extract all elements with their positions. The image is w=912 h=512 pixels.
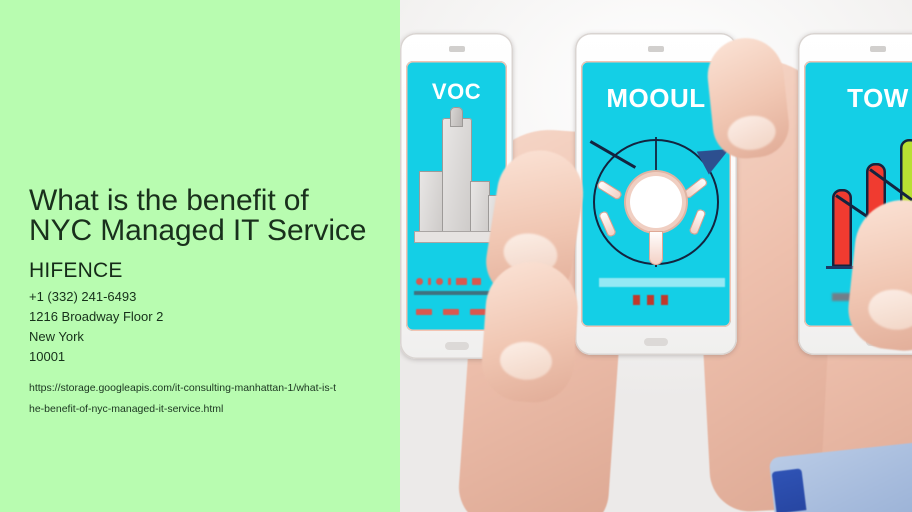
building-block-b — [470, 181, 490, 233]
finger-left-lower — [479, 259, 581, 405]
page-title: What is the benefit of NYC Managed IT Se… — [29, 186, 400, 246]
page-root: What is the benefit of NYC Managed IT Se… — [0, 0, 912, 512]
contact-street: 1216 Broadway Floor 2 — [29, 307, 400, 327]
contact-phone: +1 (332) 241-6493 — [29, 287, 400, 307]
dial-stem — [649, 231, 663, 265]
source-url-line-1: https://storage.googleapis.com/it-consul… — [29, 378, 359, 399]
source-url[interactable]: https://storage.googleapis.com/it-consul… — [29, 378, 359, 420]
home-button-icon[interactable] — [644, 338, 668, 346]
phone-2-chip-row — [633, 295, 668, 305]
phone-3-screen-title: TOW — [804, 83, 912, 114]
shirt-cuff — [772, 468, 807, 512]
fingernail — [499, 340, 554, 382]
label-chip — [443, 309, 459, 315]
building-block-a — [419, 171, 443, 233]
phone-1-bezel-top — [400, 33, 513, 61]
building-tower — [442, 118, 472, 233]
info-panel: What is the benefit of NYC Managed IT Se… — [0, 0, 400, 512]
dial-gauge-illustration — [593, 139, 719, 265]
info-content: What is the benefit of NYC Managed IT Se… — [29, 186, 400, 420]
indicator-dot — [436, 278, 443, 285]
phone-3-bezel-top — [798, 33, 912, 61]
phone-2-progress-bar — [599, 278, 725, 287]
headline-line-2: NYC Managed IT Service — [29, 216, 400, 246]
phone-1-indicator-row — [416, 278, 481, 285]
indicator-chip — [472, 278, 481, 285]
dial-hub — [630, 176, 682, 228]
hero-photo: VOC — [400, 0, 912, 512]
source-url-line-2: he-benefit-of-nyc-managed-it-service.htm… — [29, 399, 359, 420]
indicator-dot — [416, 278, 423, 285]
indicator-chip — [456, 278, 467, 285]
phone-2-screen[interactable]: MOOUL — [581, 61, 731, 327]
phone-2-bezel-bottom — [575, 327, 737, 355]
home-button-icon[interactable] — [445, 342, 469, 350]
front-camera-icon — [870, 46, 886, 52]
contact-city: New York — [29, 327, 400, 347]
earpiece-speaker-icon — [449, 46, 465, 52]
chip — [661, 295, 668, 305]
fingernail — [726, 113, 777, 152]
building-tower-cap — [450, 107, 463, 127]
contact-zip: 10001 — [29, 347, 400, 367]
chip — [633, 295, 640, 305]
label-chip — [416, 309, 432, 315]
indicator-chip — [428, 278, 431, 285]
fingernail — [866, 287, 912, 332]
headline-line-1: What is the benefit of — [29, 184, 309, 217]
phone-1-label-row — [416, 309, 486, 315]
earpiece-speaker-icon — [648, 46, 664, 52]
indicator-chip — [448, 278, 451, 285]
phone-1-screen-title: VOC — [406, 79, 507, 105]
brand-name: HIFENCE — [29, 259, 400, 283]
label-chip — [470, 309, 486, 315]
chip — [647, 295, 654, 305]
